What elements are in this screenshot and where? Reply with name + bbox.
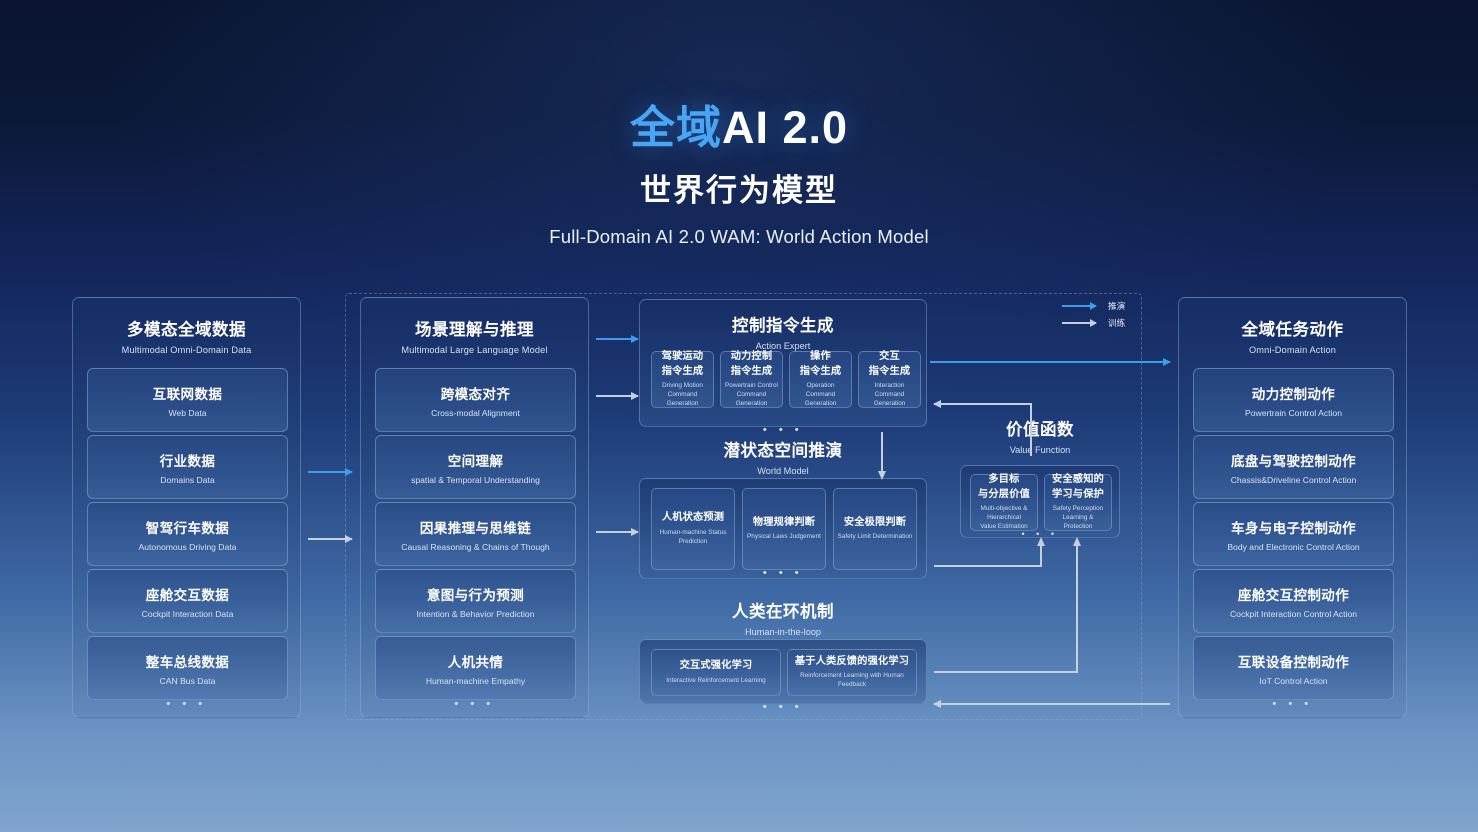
panel-title-en-scene: Multimodal Large Language Model (361, 345, 588, 355)
panel-header-scene: 场景理解与推理 Multimodal Large Language Model (361, 298, 588, 355)
panel-title-cn-action-expert: 控制指令生成 (640, 312, 926, 336)
panel-value-function: 多目标 与分层价值 Multi-objective & Hierarchical… (960, 465, 1120, 538)
card-title-cn: 行业数据 (160, 450, 216, 470)
panel-title-cn-scene: 场景理解与推理 (361, 316, 588, 340)
arrow-omni-action-to-human-loop (934, 703, 942, 705)
card-title-en: Intention & Behavior Prediction (417, 609, 535, 619)
page-subtitle-cn: 世界行为模型 (0, 165, 1478, 210)
feedback-line-value-vertical (1030, 403, 1032, 456)
card-title-en: Autonomous Driving Data (139, 542, 237, 552)
minicard-cn-line1: 多目标 (988, 473, 1019, 488)
feedback-line-action-to-human (934, 703, 1170, 705)
minicard-value-0[interactable]: 多目标 与分层价值 Multi-objective & Hierarchical… (970, 474, 1038, 531)
minicard-en-line2: Command Generation (862, 391, 917, 409)
card-title-en: Powertrain Control Action (1245, 408, 1342, 418)
page-subtitle-en: Full-Domain AI 2.0 WAM: World Action Mod… (0, 226, 1478, 248)
card-title-cn: 智驾行车数据 (146, 517, 229, 537)
card-action-1[interactable]: 底盘与驾驶控制动作 Chassis&Driveline Control Acti… (1193, 435, 1394, 499)
card-title-en: spatial & Temporal Understanding (411, 475, 540, 485)
card-data-0[interactable]: 互联网数据 Web Data (87, 368, 288, 432)
minicard-action-2[interactable]: 操作 指令生成 Operation Command Generation (789, 351, 852, 408)
panel-header-data: 多模态全域数据 Multimodal Omni-Domain Data (73, 298, 300, 355)
minicard-cn-line2: 指令生成 (869, 365, 911, 380)
arrow-action-expert-to-world-model (881, 432, 883, 472)
minicard-en: Reinforcement Learning with Human Feedba… (791, 672, 913, 690)
minicard-en-line1: Multi-objective & Hierarchical (974, 505, 1034, 523)
card-title-cn: 动力控制动作 (1252, 383, 1335, 403)
minicard-cn-line2: 指令生成 (731, 365, 773, 380)
card-title-en: Causal Reasoning & Chains of Though (401, 542, 549, 552)
card-title-cn: 互联设备控制动作 (1238, 651, 1349, 671)
card-data-3[interactable]: 座舱交互数据 Cockpit Interaction Data (87, 569, 288, 633)
minicard-cn: 人机状态预测 (662, 511, 724, 526)
card-title-cn: 人机共情 (448, 651, 504, 671)
ellipsis-dots-action: • • • (1179, 698, 1406, 710)
card-data-2[interactable]: 智驾行车数据 Autonomous Driving Data (87, 502, 288, 566)
card-action-2[interactable]: 车身与电子控制动作 Body and Electronic Control Ac… (1193, 502, 1394, 566)
panel-human-loop: 交互式强化学习 Interactive Reinforcement Learni… (639, 639, 927, 704)
card-scene-2[interactable]: 因果推理与思维链 Causal Reasoning & Chains of Th… (375, 502, 576, 566)
card-title-cn: 因果推理与思维链 (420, 517, 531, 537)
card-title-cn: 跨模态对齐 (441, 383, 511, 403)
ellipsis-dots-scene: • • • (361, 698, 588, 710)
minicard-cn-line2: 与分层价值 (978, 488, 1030, 503)
panel-header-action-expert: 控制指令生成 Action Expert (640, 312, 926, 351)
panel-title-en-action: Omni-Domain Action (1179, 345, 1406, 355)
minicard-en-line1: Interaction (875, 382, 905, 391)
minicard-en-line2: Command Generation (724, 391, 779, 409)
card-scene-1[interactable]: 空间理解 spatial & Temporal Understanding (375, 435, 576, 499)
minicard-cn: 交互式强化学习 (680, 659, 753, 674)
arrow-action-expert-to-omni-action (930, 361, 1170, 363)
card-action-0[interactable]: 动力控制动作 Powertrain Control Action (1193, 368, 1394, 432)
card-title-en: CAN Bus Data (160, 676, 216, 686)
panel-title-cn-human-loop: 人类在环机制 (639, 598, 927, 622)
minicard-cn-line1: 操作 (810, 350, 831, 365)
minicard-en-line1: Operation (806, 382, 834, 391)
minicard-world-2[interactable]: 安全极限判断 Safety Limit Determination (833, 488, 917, 570)
ellipsis-dots-world-model: • • • (639, 567, 927, 579)
arrow-data-to-scene-training (308, 538, 352, 540)
card-action-3[interactable]: 座舱交互控制动作 Cockpit Interaction Control Act… (1193, 569, 1394, 633)
minicard-cn-line1: 交互 (879, 350, 900, 365)
panel-header-human-loop: 人类在环机制 Human-in-the-loop (639, 598, 927, 637)
panel-title-cn-value-function: 价值函数 (960, 416, 1120, 440)
panel-action-expert: 控制指令生成 Action Expert 驾驶运动 指令生成 Driving M… (639, 299, 927, 427)
minicard-en-line1: Driving Motion (662, 382, 703, 391)
panel-omni-domain-action: 全域任务动作 Omni-Domain Action 动力控制动作 Powertr… (1178, 297, 1407, 718)
card-scene-3[interactable]: 意图与行为预测 Intention & Behavior Prediction (375, 569, 576, 633)
page-header: 全域AI 2.0 世界行为模型 Full-Domain AI 2.0 WAM: … (0, 104, 1478, 248)
minicard-value-1[interactable]: 安全感知的 学习与保护 Safety Perception Learning &… (1044, 474, 1112, 531)
card-title-en: Domains Data (160, 475, 214, 485)
arrow-world-model-to-value-function (1040, 545, 1042, 567)
minicard-en-line1: Powertrain Control (725, 382, 778, 391)
minicard-en-line2: Command Generation (793, 391, 848, 409)
card-scene-4[interactable]: 人机共情 Human-machine Empathy (375, 636, 576, 700)
minicard-cn-line2: 指令生成 (662, 365, 704, 380)
minicard-cn-line2: 学习与保护 (1052, 488, 1104, 503)
card-title-cn: 空间理解 (448, 450, 504, 470)
arrow-human-loop-to-value-function (1076, 545, 1078, 673)
panel-title-cn-world-model: 潜状态空间推演 (639, 437, 927, 461)
card-title-en: Cockpit Interaction Control Action (1230, 609, 1357, 619)
card-title-en: IoT Control Action (1259, 676, 1327, 686)
minicard-cn: 安全极限判断 (844, 516, 906, 531)
arrow-scene-to-world-model-training (596, 531, 638, 533)
panel-title-en-data: Multimodal Omni-Domain Data (73, 345, 300, 355)
card-action-4[interactable]: 互联设备控制动作 IoT Control Action (1193, 636, 1394, 700)
minicard-cn-line1: 安全感知的 (1052, 473, 1104, 488)
minicard-action-1[interactable]: 动力控制 指令生成 Powertrain Control Command Gen… (720, 351, 783, 408)
minicard-world-1[interactable]: 物理规律判断 Physical Laws Judgement (742, 488, 826, 570)
feedback-line-world-horizontal (934, 565, 1042, 567)
minicard-en-line2: Command Generation (655, 391, 710, 409)
minicard-en: Human-machine Status Prediction (655, 529, 731, 547)
feedback-line-human-horizontal (934, 671, 1078, 673)
minicard-cn-line1: 动力控制 (731, 350, 773, 365)
minicard-human-0[interactable]: 交互式强化学习 Interactive Reinforcement Learni… (651, 649, 781, 696)
card-title-en: Cockpit Interaction Data (142, 609, 234, 619)
panel-title-cn-action: 全域任务动作 (1179, 316, 1406, 340)
minicard-human-1[interactable]: 基于人类反馈的强化学习 Reinforcement Learning with … (787, 649, 917, 696)
card-title-cn: 互联网数据 (153, 383, 223, 403)
arrow-scene-to-action-expert-training (596, 395, 638, 397)
arrow-value-to-action-expert (934, 403, 942, 405)
card-data-1[interactable]: 行业数据 Domains Data (87, 435, 288, 499)
panel-header-action: 全域任务动作 Omni-Domain Action (1179, 298, 1406, 355)
panel-header-value-function: 价值函数 Value Function (960, 416, 1120, 455)
panel-multimodal-data: 多模态全域数据 Multimodal Omni-Domain Data 互联网数… (72, 297, 301, 718)
diagram-canvas: 全域AI 2.0 世界行为模型 Full-Domain AI 2.0 WAM: … (0, 0, 1478, 832)
minicard-world-0[interactable]: 人机状态预测 Human-machine Status Prediction (651, 488, 735, 570)
minicard-en: Safety Limit Determination (838, 533, 913, 542)
minicard-en: Interactive Reinforcement Learning (666, 677, 765, 686)
panel-title-en-value-function: Value Function (960, 445, 1120, 455)
card-title-en: Chassis&Driveline Control Action (1231, 475, 1357, 485)
card-title-en: Cross-modal Alignment (431, 408, 520, 418)
ellipsis-dots-data: • • • (73, 698, 300, 710)
panel-scene-understanding: 场景理解与推理 Multimodal Large Language Model … (360, 297, 589, 718)
minicard-cn: 基于人类反馈的强化学习 (795, 655, 909, 670)
panel-world-model: 人机状态预测 Human-machine Status Prediction 物… (639, 478, 927, 579)
card-scene-0[interactable]: 跨模态对齐 Cross-modal Alignment (375, 368, 576, 432)
card-title-cn: 座舱交互控制动作 (1238, 584, 1349, 604)
minicard-cn-line2: 指令生成 (800, 365, 842, 380)
card-title-cn: 车身与电子控制动作 (1231, 517, 1356, 537)
page-title: 全域AI 2.0 (0, 104, 1478, 151)
ellipsis-dots-action-expert: • • • (639, 424, 927, 436)
page-title-en: AI 2.0 (722, 102, 848, 153)
card-title-cn: 整车总线数据 (146, 651, 229, 671)
card-title-cn: 座舱交互数据 (146, 584, 229, 604)
panel-title-cn-data: 多模态全域数据 (73, 316, 300, 340)
card-title-en: Human-machine Empathy (426, 676, 525, 686)
minicard-en: Physical Laws Judgement (747, 533, 821, 542)
feedback-line-value-horizontal (934, 403, 1032, 405)
arrow-scene-to-action-expert-inference (596, 338, 638, 340)
card-data-4[interactable]: 整车总线数据 CAN Bus Data (87, 636, 288, 700)
arrow-data-to-scene-inference (308, 471, 352, 473)
panel-title-en-human-loop: Human-in-the-loop (639, 627, 927, 637)
minicard-cn-line1: 驾驶运动 (662, 350, 704, 365)
card-title-en: Body and Electronic Control Action (1227, 542, 1359, 552)
minicard-en-line1: Safety Perception (1053, 505, 1103, 514)
card-title-cn: 意图与行为预测 (427, 584, 524, 604)
minicard-action-3[interactable]: 交互 指令生成 Interaction Command Generation (858, 351, 921, 408)
card-title-cn: 底盘与驾驶控制动作 (1231, 450, 1356, 470)
page-title-cn: 全域 (630, 102, 722, 153)
minicard-cn: 物理规律判断 (753, 516, 815, 531)
ellipsis-dots-human-loop: • • • (639, 701, 927, 713)
minicard-action-0[interactable]: 驾驶运动 指令生成 Driving Motion Command Generat… (651, 351, 714, 408)
card-title-en: Web Data (168, 408, 206, 418)
